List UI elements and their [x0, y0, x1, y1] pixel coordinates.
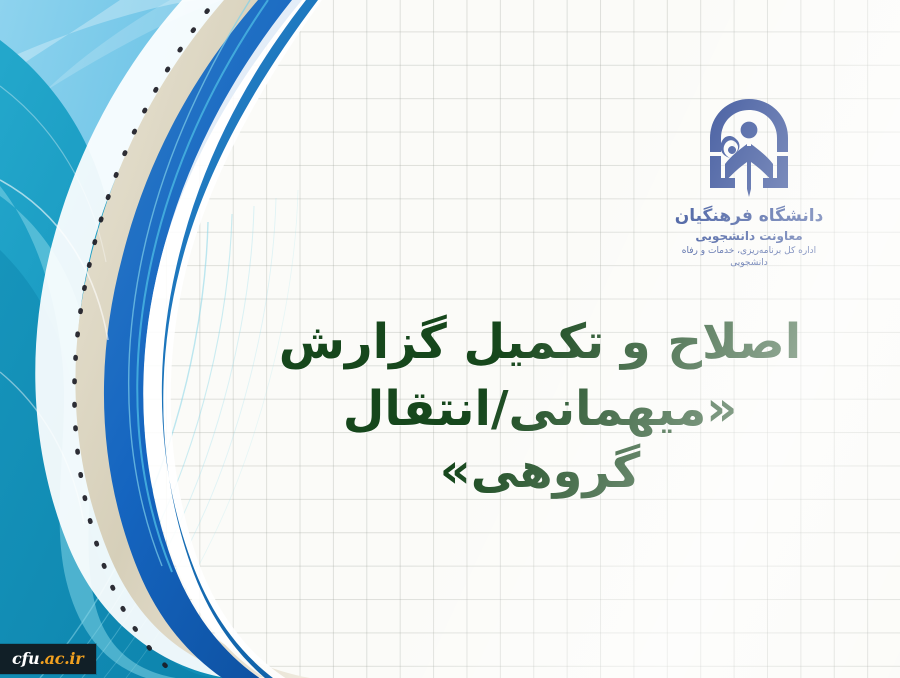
site-watermark-badge: cfu.ac.ir: [0, 644, 96, 674]
logo-line-deputy: معاونت دانشجویی: [664, 229, 834, 244]
watermark-text-secondary: .ac.ir: [39, 649, 83, 668]
university-logo: دانشگاه فرهنگیان معاونت دانشجویی اداره ک…: [664, 96, 834, 269]
logo-line-university: دانشگاه فرهنگیان: [664, 206, 834, 227]
title-line-2: «میهمانی/انتقال گروهی»: [270, 379, 810, 502]
title-line-1: اصلاح و تکمیل گزارش: [270, 312, 810, 373]
watermark-text-primary: cfu: [12, 649, 39, 668]
farhangian-university-emblem-icon: [701, 96, 797, 204]
slide-canvas: دانشگاه فرهنگیان معاونت دانشجویی اداره ک…: [0, 0, 900, 678]
logo-text-block: دانشگاه فرهنگیان معاونت دانشجویی اداره ک…: [664, 206, 834, 269]
logo-line-department: اداره کل برنامه‌ریزی، خدمات و رفاه دانشج…: [664, 246, 834, 269]
slide-title: اصلاح و تکمیل گزارش «میهمانی/انتقال گروه…: [270, 312, 810, 502]
